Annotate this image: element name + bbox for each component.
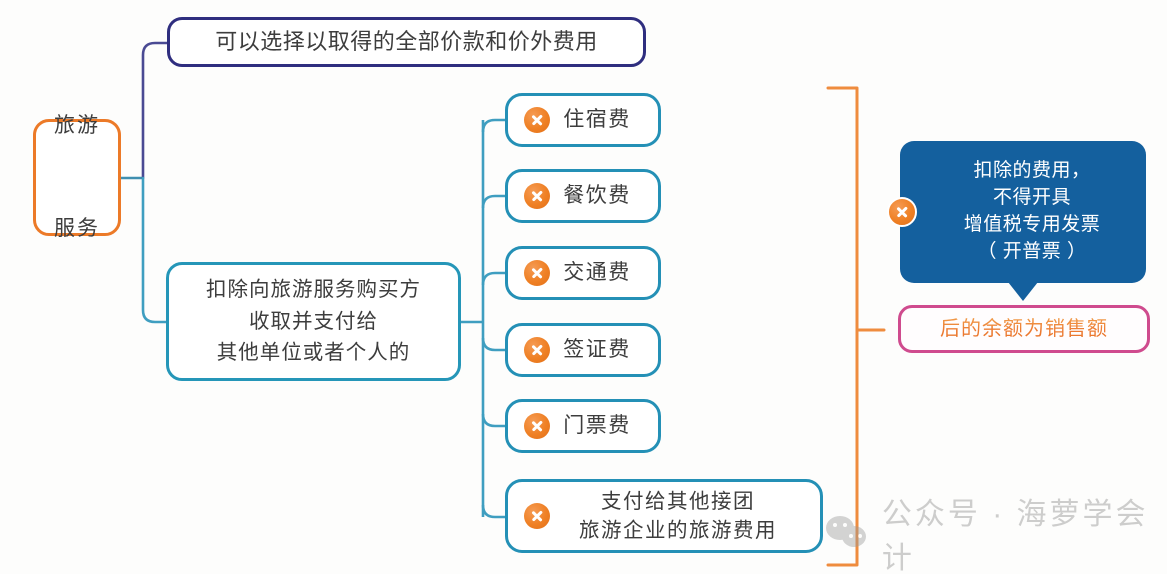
leaf-label: 交通费: [550, 258, 658, 288]
callout-no-special-invoice[interactable]: 扣除的费用， 不得开具 增值税专用发票 （ 开普票 ）: [900, 141, 1146, 283]
mindmap-canvas: 旅游 服务 可以选择以取得的全部价款和价外费用 扣除向旅游服务购买方 收取并支付…: [0, 0, 1167, 574]
leaf-node-catering-fee[interactable]: 餐饮费: [505, 169, 661, 223]
x-circle-icon: [524, 260, 550, 286]
root-node-tourism-service[interactable]: 旅游 服务: [33, 119, 121, 236]
x-circle-icon: [524, 503, 550, 529]
watermark: 公众号 · 海萝学会计: [826, 489, 1167, 574]
x-circle-icon: [524, 413, 550, 439]
x-circle-icon: [887, 197, 917, 227]
leaf-node-visa-fee[interactable]: 签证费: [505, 323, 661, 377]
leaf-node-lodging-fee[interactable]: 住宿费: [505, 93, 661, 147]
leaf-node-admission-fee[interactable]: 门票费: [505, 399, 661, 453]
leaf-label: 签证费: [550, 335, 658, 365]
leaf-label: 住宿费: [550, 105, 658, 135]
callout-label: 扣除的费用， 不得开具 增值税专用发票 （ 开普票 ）: [900, 158, 1146, 266]
result-node-taxable-sales[interactable]: 后的余额为销售额: [898, 305, 1150, 353]
wechat-icon: [826, 514, 868, 552]
result-label: 后的余额为销售额: [940, 315, 1108, 343]
x-circle-icon: [524, 107, 550, 133]
leaf-node-transport-fee[interactable]: 交通费: [505, 246, 661, 300]
leaf-label: 门票费: [550, 411, 658, 441]
leaf-label: 餐饮费: [550, 181, 658, 211]
callout-tail-icon: [1008, 282, 1038, 301]
leaf-label: 支付给其他接团 旅游企业的旅游费用: [550, 487, 820, 545]
x-circle-icon: [524, 337, 550, 363]
watermark-text: 公众号 · 海萝学会计: [882, 489, 1167, 574]
branch-node-deductible-basis[interactable]: 扣除向旅游服务购买方 收取并支付给 其他单位或者个人的: [166, 262, 461, 381]
x-circle-icon: [524, 183, 550, 209]
branch-node-optional-full-price[interactable]: 可以选择以取得的全部价款和价外费用: [167, 17, 646, 67]
leaf-node-outsourced-tour-fee[interactable]: 支付给其他接团 旅游企业的旅游费用: [505, 479, 823, 553]
